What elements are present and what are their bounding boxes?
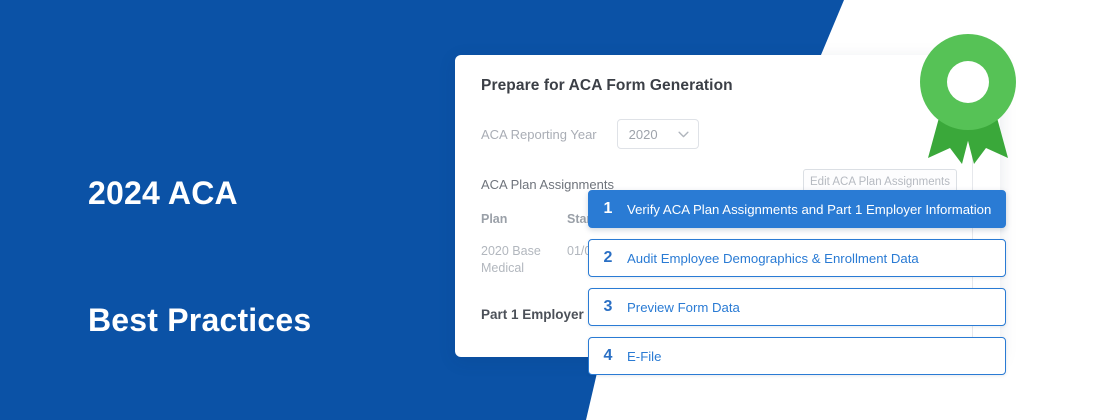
step-number: 3: [589, 298, 627, 316]
reporting-year-select[interactable]: 2020: [617, 119, 699, 149]
step-item-1[interactable]: 1 Verify ACA Plan Assignments and Part 1…: [588, 190, 1006, 228]
step-label: Verify ACA Plan Assignments and Part 1 E…: [627, 202, 1001, 217]
page-title: 2024 ACA Best Practices: [88, 88, 311, 420]
step-label: Audit Employee Demographics & Enrollment…: [627, 251, 929, 266]
reporting-year-label: ACA Reporting Year: [481, 127, 597, 142]
reporting-year-row: ACA Reporting Year 2020: [481, 119, 699, 149]
headline-line-2: Best Practices: [88, 299, 311, 341]
step-item-2[interactable]: 2 Audit Employee Demographics & Enrollme…: [588, 239, 1006, 277]
banner-stage: 2024 ACA Best Practices Prepare for ACA …: [0, 0, 1100, 420]
reporting-year-value: 2020: [629, 127, 658, 142]
award-ribbon-icon: [916, 30, 1020, 168]
step-number: 4: [589, 347, 627, 365]
step-label: E-File: [627, 349, 671, 364]
column-header-plan: Plan: [481, 212, 507, 226]
step-number: 1: [589, 200, 627, 218]
card-title: Prepare for ACA Form Generation: [481, 77, 733, 95]
step-number: 2: [589, 249, 627, 267]
cell-plan: 2020 Base Medical: [481, 243, 551, 278]
step-item-3[interactable]: 3 Preview Form Data: [588, 288, 1006, 326]
chevron-down-icon: [678, 131, 689, 138]
step-label: Preview Form Data: [627, 300, 750, 315]
step-item-4[interactable]: 4 E-File: [588, 337, 1006, 375]
steps-list: 1 Verify ACA Plan Assignments and Part 1…: [588, 190, 1006, 375]
headline-line-1: 2024 ACA: [88, 172, 311, 214]
